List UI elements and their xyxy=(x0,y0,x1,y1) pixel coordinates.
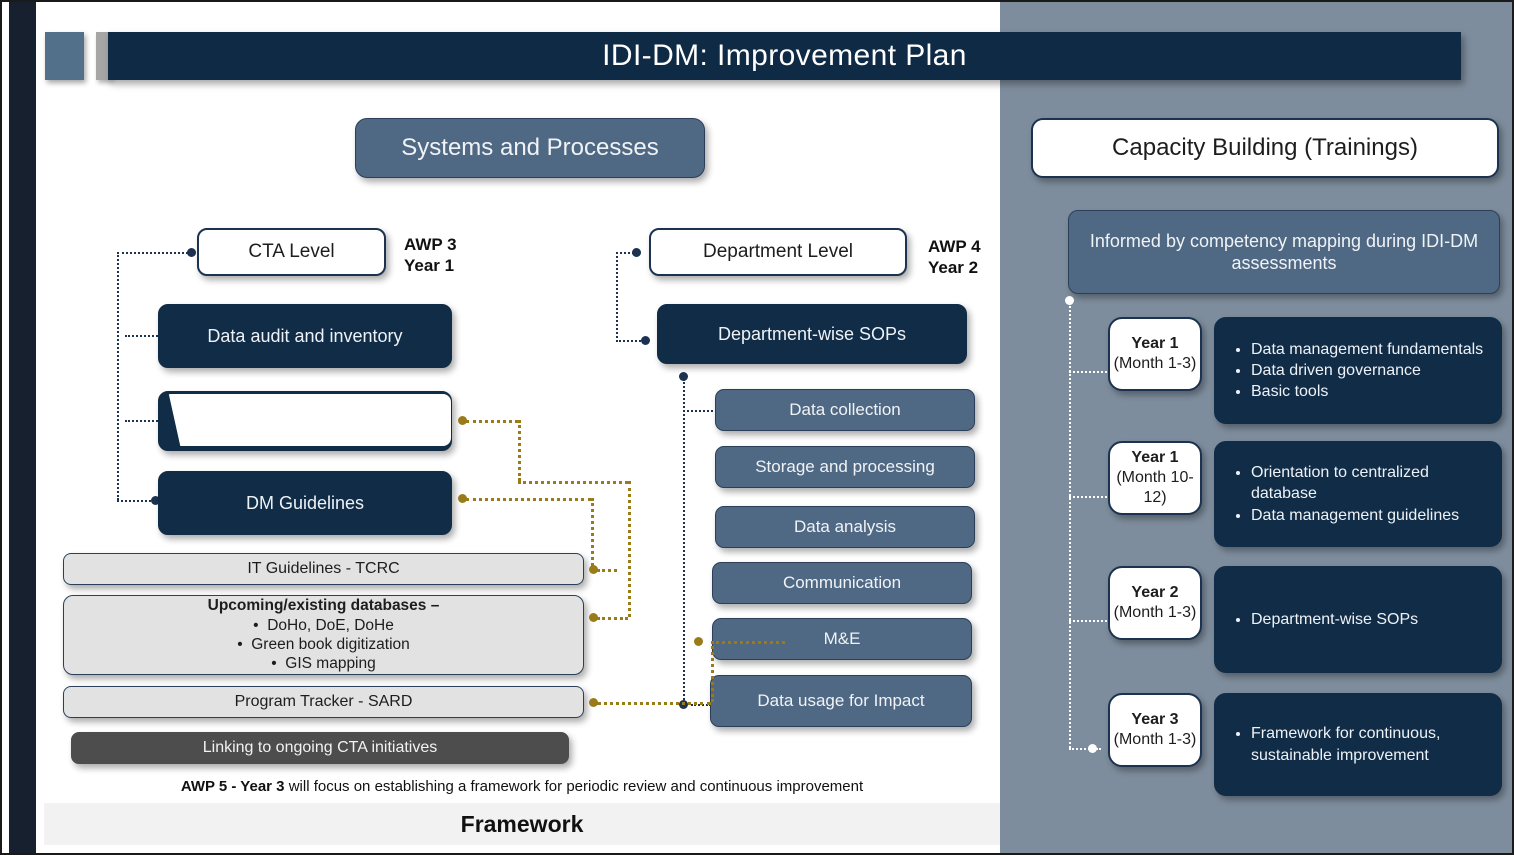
slide-canvas: IDI-DM: Improvement Plan Systems and Pro… xyxy=(0,0,1514,855)
slide-border xyxy=(0,0,1514,855)
